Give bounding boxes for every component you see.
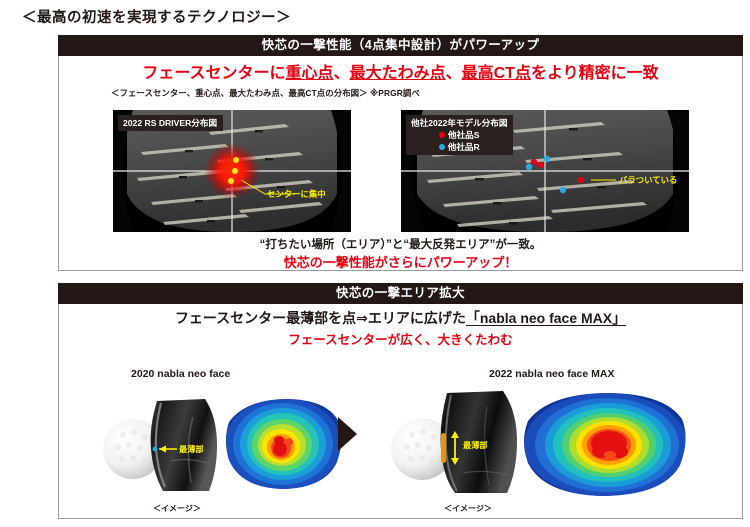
clubhead-image-2020: 最薄部 bbox=[101, 387, 226, 497]
panel1-footer-red: 快芯の一撃性能がさらにパワーアップ！ bbox=[59, 252, 742, 271]
legend-item-s: 他社品S bbox=[411, 129, 507, 141]
thinnest-part-callout-2020: 最薄部 bbox=[179, 443, 204, 455]
image-caption-2022: ＜イメージ＞ bbox=[444, 503, 492, 514]
panel1-footer-black: “打ちたい場所（エリア）”と“最大反発エリア”が一致。 bbox=[59, 236, 742, 252]
panel2-headline-red: フェースセンターが広く、大きくたわむ bbox=[59, 329, 742, 348]
panel2-headline: フェースセンター最薄部を点⇒エリアに広げた「nabla neo face MAX… bbox=[59, 308, 742, 328]
heatmap-2022-svg bbox=[514, 389, 694, 501]
headline-sep-2: 、 bbox=[446, 65, 462, 82]
legend-item-r: 他社品R bbox=[411, 141, 507, 153]
infographic-root: ＜最高の初速を実現するテクノロジー＞ 快芯の一撃性能（4点集中設計）がパワーアッ… bbox=[0, 0, 750, 527]
panel-sweet-area-expansion: 快芯の一撃エリア拡大 フェースセンター最薄部を点⇒エリアに広げた「nabla n… bbox=[58, 283, 743, 519]
panel1-banner: 快芯の一撃性能（4点集中設計）がパワーアップ bbox=[58, 35, 743, 56]
nabla-2020-title: 2020 nabla neo face bbox=[131, 368, 230, 380]
clubhead-2022-svg bbox=[389, 385, 524, 499]
panel-four-point-design: 快芯の一撃性能（4点集中設計）がパワーアップ フェースセンターに重心点、最大たわ… bbox=[58, 35, 743, 271]
competitor-label-text: 他社2022年モデル分布図 bbox=[411, 117, 507, 129]
panel1-headline: フェースセンターに重心点、最大たわみ点、最高CT点をより精密に一致 bbox=[59, 59, 742, 83]
heatmap-2020-svg bbox=[219, 394, 349, 494]
nabla-2022-title: 2022 nabla neo face MAX bbox=[489, 368, 614, 380]
face-deflection-heatmap-2022 bbox=[514, 389, 694, 501]
competitor-annotation: バラついている bbox=[619, 174, 677, 186]
headline-underline-center-of-gravity: 重心点 bbox=[286, 65, 334, 82]
triangle-glyph bbox=[336, 416, 358, 452]
legend-label-r: 他社品R bbox=[448, 141, 480, 153]
play-triangle-icon bbox=[336, 416, 358, 457]
legend-label-s: 他社品S bbox=[448, 129, 480, 141]
headline-part-2: をより精密に一致 bbox=[531, 65, 659, 82]
prgr-annotation: センターに集中 bbox=[267, 188, 326, 200]
panel2-banner: 快芯の一撃エリア拡大 bbox=[58, 283, 743, 304]
clubhead-image-2022: 最薄部 bbox=[389, 385, 524, 499]
face-deflection-heatmap-2020 bbox=[219, 394, 349, 494]
page-title: ＜最高の初速を実現するテクノロジー＞ bbox=[22, 6, 291, 27]
competitor-image-label: 他社2022年モデル分布図 他社品S 他社品R bbox=[406, 115, 513, 155]
face-distribution-image-prgr: センターに集中 2022 RS DRIVER分布図 bbox=[113, 110, 351, 232]
panel1-caption: ＜フェースセンター、重心点、最大たわみ点、最高CT点の分布図＞ ※PRGR調べ bbox=[111, 87, 742, 99]
headline-underline-max-deflection: 最大たわみ点 bbox=[350, 65, 446, 82]
panel2-headline-pre: フェースセンター最薄部を点⇒エリアに広げた bbox=[175, 310, 466, 326]
legend-dot-blue bbox=[439, 144, 445, 150]
headline-sep-1: 、 bbox=[334, 65, 350, 82]
face-distribution-image-competitor: バラついている 他社2022年モデル分布図 他社品S 他社品R bbox=[401, 110, 689, 232]
panel2-headline-product: 「nabla neo face MAX」 bbox=[466, 310, 626, 326]
headline-underline-max-ct: 最高CT点 bbox=[462, 65, 531, 82]
headline-part-1: フェースセンターに bbox=[142, 65, 285, 82]
legend-dot-red bbox=[439, 132, 445, 138]
image-caption-2020: ＜イメージ＞ bbox=[153, 503, 201, 514]
clubhead-2020-svg bbox=[101, 387, 226, 497]
prgr-image-label: 2022 RS DRIVER分布図 bbox=[118, 115, 223, 131]
thinnest-part-callout-2022: 最薄部 bbox=[463, 439, 488, 451]
